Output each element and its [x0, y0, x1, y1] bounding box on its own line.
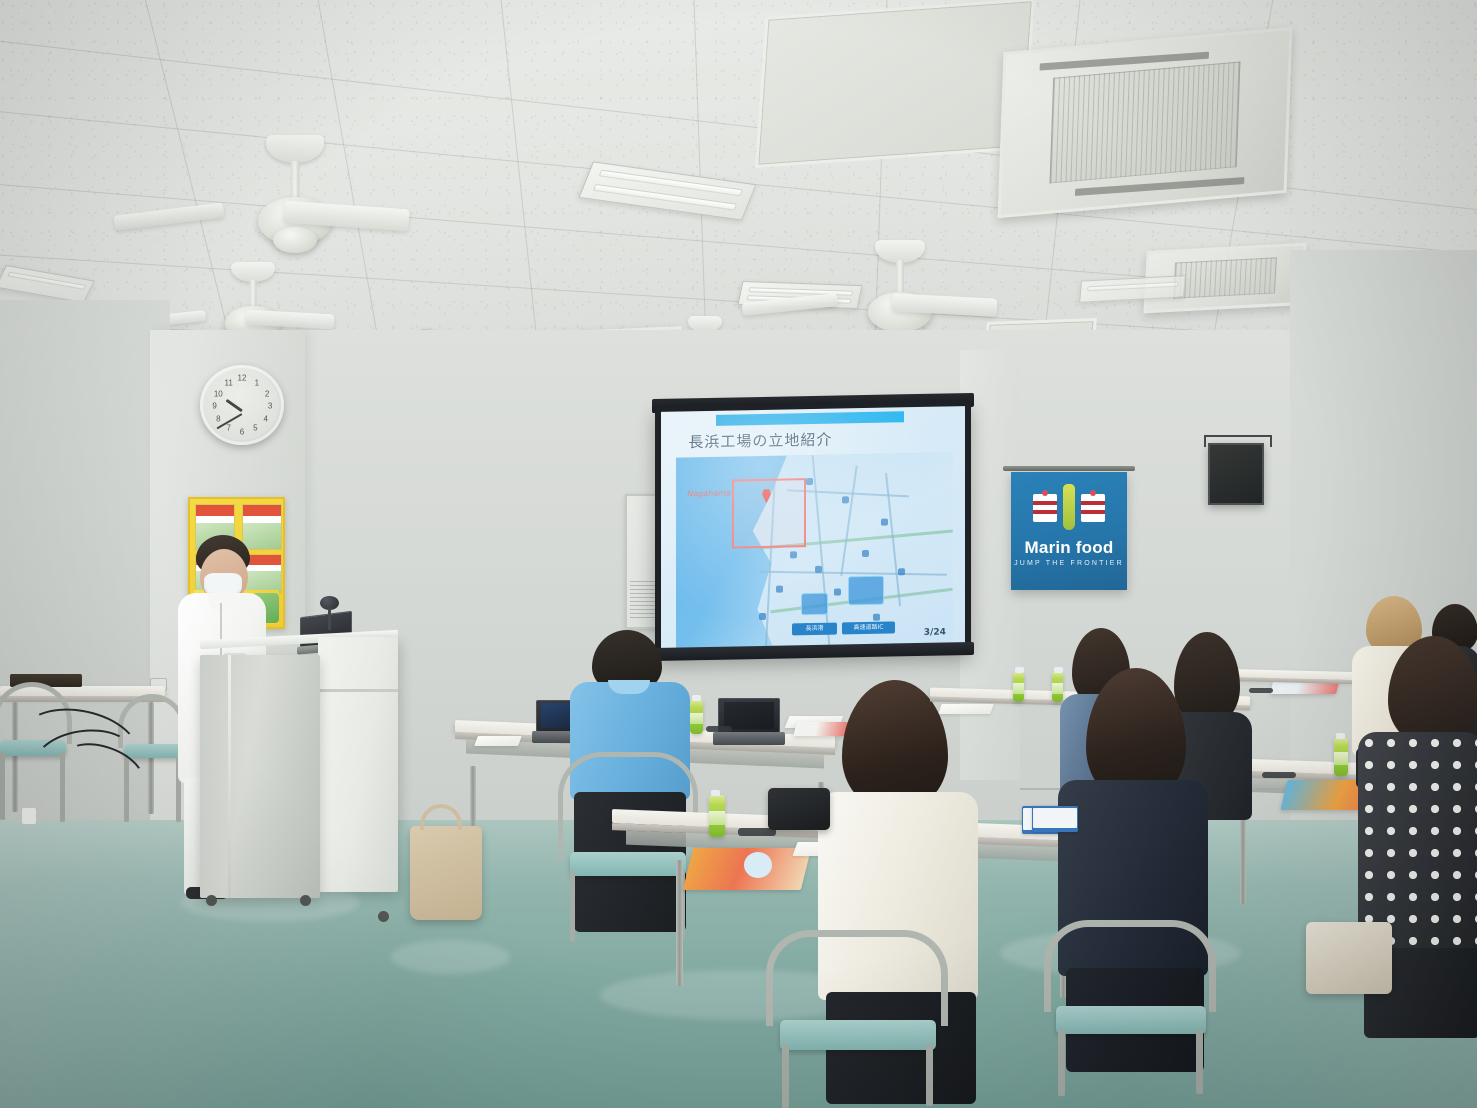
clock-number: 8: [216, 415, 220, 424]
slide-page-indicator: 3/24: [924, 627, 946, 637]
papers: [474, 736, 522, 746]
clock-number: 3: [268, 402, 272, 411]
tote-bag: [410, 826, 482, 920]
attendee-hair: [1388, 636, 1477, 744]
map-callout-label: 高速道路IC: [842, 622, 895, 635]
tea-bottle: [1334, 738, 1348, 776]
laptop: [718, 698, 780, 748]
eyeglasses: [706, 726, 732, 732]
projection-screen: 長浜工場の立地紹介: [655, 401, 971, 660]
clock-number: 4: [263, 415, 267, 424]
tea-bottle: [1013, 672, 1024, 702]
podium-microphone: [325, 596, 334, 626]
name-badge: [1032, 806, 1078, 832]
tea-bottle: [709, 795, 725, 837]
clock-number: 9: [212, 402, 216, 411]
banner-tagline: JUMP THE FRONTIER: [1011, 560, 1127, 567]
papers: [938, 704, 993, 714]
handbag-cream: [1306, 922, 1392, 994]
seminar-room-photo: 12 1 2 3 4 5 6 7 8 9 10 11 けろ ろう!: [0, 0, 1477, 1108]
wall-speaker: [1208, 443, 1264, 505]
map-site-label: Nagahama: [687, 489, 731, 499]
clock-number: 10: [214, 389, 223, 398]
banner-brand: Marin food: [1011, 538, 1127, 558]
map-callout: [848, 576, 884, 605]
wall-clock: 12 1 2 3 4 5 6 7 8 9 10 11: [200, 365, 284, 445]
table-leg: [676, 860, 683, 986]
slide-accent-bar: [716, 411, 904, 426]
ceiling-fan: [180, 135, 410, 270]
clock-hour-hand: [226, 399, 243, 412]
clock-number: 12: [238, 374, 247, 383]
podium[interactable]: [200, 655, 395, 898]
shoulder-bag: [768, 788, 830, 830]
map-highlight-box: [732, 478, 807, 548]
presenter-collar: [208, 593, 238, 611]
stacking-chair: [1044, 920, 1224, 1096]
company-banner: Marin food JUMP THE FRONTIER: [1011, 472, 1127, 590]
slide-title: 長浜工場の立地紹介: [688, 429, 832, 453]
clock-number: 1: [255, 378, 259, 387]
clock-number: 11: [225, 378, 233, 387]
map-callout-label: 長浜港: [792, 623, 836, 636]
ceiling-access-panel: [755, 0, 1035, 168]
clock-number: 7: [226, 424, 230, 433]
map-callout: [801, 592, 829, 615]
clock-number: 6: [240, 427, 244, 436]
slide-map: Nagahama 長浜港 高速道路IC 3/24: [676, 452, 953, 648]
ac-cassette-unit: [998, 27, 1293, 218]
floor-object: [22, 808, 36, 824]
stacking-chair: [766, 930, 956, 1108]
clock-number: 2: [265, 389, 269, 398]
presentation-slide: 長浜工場の立地紹介: [661, 406, 965, 654]
marin-food-logo-icon: [1029, 484, 1109, 532]
brochure-circle: [744, 852, 772, 878]
clock-number: 5: [253, 424, 257, 433]
banner-rail: [1003, 466, 1135, 471]
eyeglasses: [1262, 772, 1296, 778]
